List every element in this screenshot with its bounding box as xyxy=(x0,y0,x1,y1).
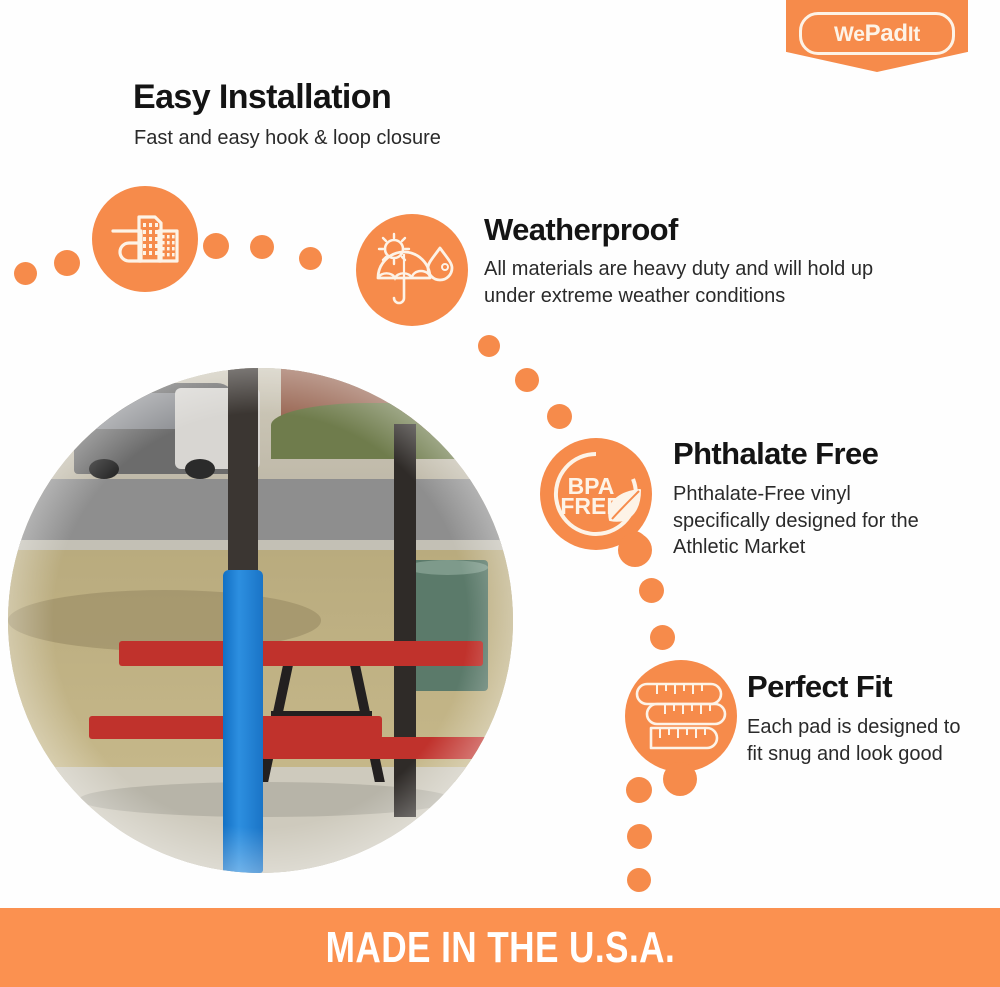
hook-and-loop-strap-icon xyxy=(109,209,181,269)
perfect-fit-icon-circle xyxy=(625,660,737,772)
infographic-page: WePadIt xyxy=(0,0,1000,987)
logo-outline: WePadIt xyxy=(799,12,955,55)
feature-title-easy-installation: Easy Installation xyxy=(133,80,391,116)
path-dot xyxy=(14,262,37,285)
product-photo-scene xyxy=(8,368,513,873)
path-dot xyxy=(639,578,664,603)
made-in-usa-banner: MADE IN THE U.S.A. xyxy=(0,908,1000,987)
logo-text-pad: Pad xyxy=(865,20,908,47)
path-dot xyxy=(663,762,697,796)
feature-desc-easy-installation: Fast and easy hook & loop closure xyxy=(134,125,554,152)
logo-text-it: It xyxy=(908,23,920,46)
path-dot xyxy=(627,824,652,849)
easy-installation-icon-circle xyxy=(92,186,198,292)
logo-text-we: We xyxy=(834,23,865,46)
feature-title-weatherproof: Weatherproof xyxy=(484,214,678,247)
path-dot xyxy=(515,368,539,392)
product-photo xyxy=(8,368,513,873)
feature-desc-perfect-fit: Each pad is designed to fit snug and loo… xyxy=(747,714,977,767)
path-dot xyxy=(250,235,274,259)
feature-desc-weatherproof: All materials are heavy duty and will ho… xyxy=(484,256,914,309)
feature-title-phthalate-free: Phthalate Free xyxy=(673,438,878,471)
path-dot xyxy=(627,868,651,892)
measuring-tape-icon xyxy=(635,674,727,758)
path-dot xyxy=(478,335,500,357)
logo-text: WePadIt xyxy=(834,22,920,46)
brand-logo: WePadIt xyxy=(786,0,968,72)
path-dot xyxy=(618,533,652,567)
path-dot xyxy=(299,247,322,270)
bpa-free-leaf-icon: BPA FREE xyxy=(544,442,648,546)
path-dot xyxy=(54,250,80,276)
path-dot xyxy=(626,777,652,803)
feature-title-perfect-fit: Perfect Fit xyxy=(747,671,892,704)
path-dot xyxy=(650,625,675,650)
made-in-usa-label: MADE IN THE U.S.A. xyxy=(325,923,674,973)
path-dot xyxy=(203,233,229,259)
weatherproof-icon-circle xyxy=(356,214,468,326)
path-dot xyxy=(547,404,572,429)
sun-umbrella-raindrop-icon xyxy=(370,232,454,308)
feature-desc-phthalate-free: Phthalate-Free vinyl specifically design… xyxy=(673,481,933,561)
